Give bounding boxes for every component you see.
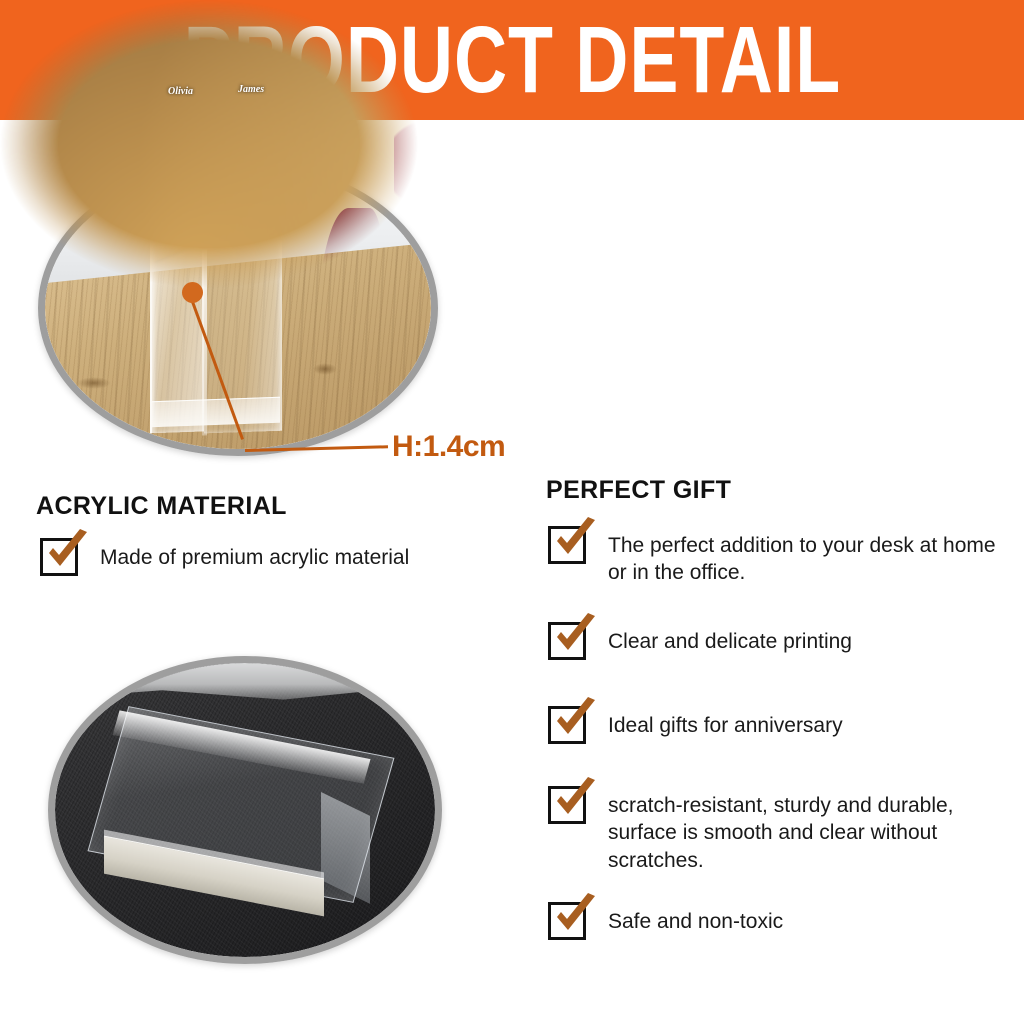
photo-acrylic-block <box>48 656 442 964</box>
checkmark-icon <box>548 526 586 564</box>
bride-name-label: Olivia <box>168 86 193 97</box>
acrylic-foot <box>152 397 280 427</box>
feature-text: Clear and delicate printing <box>608 622 1010 655</box>
checkmark-icon <box>548 622 586 660</box>
feature-item: Clear and delicate printing <box>548 622 1010 660</box>
groom-name-label: James <box>238 84 264 95</box>
wood-knot <box>77 377 111 389</box>
feature-item: Ideal gifts for anniversary <box>548 706 1010 744</box>
feature-text: scratch-resistant, sturdy and durable, s… <box>608 786 1010 874</box>
dimension-label: H:1.4cm <box>392 430 505 464</box>
feature-item: scratch-resistant, sturdy and durable, s… <box>548 786 1010 874</box>
feature-item: Safe and non-toxic <box>548 902 1010 940</box>
feature-item: Made of premium acrylic material <box>40 538 502 576</box>
feature-text: Made of premium acrylic material <box>100 538 502 571</box>
acrylic-block-scene <box>55 663 435 957</box>
checkmark-icon <box>548 902 586 940</box>
checkmark-icon <box>548 786 586 824</box>
feature-item: The perfect addition to your desk at hom… <box>548 526 1010 587</box>
dimension-marker-dot <box>182 282 203 303</box>
checkmark-icon <box>548 706 586 744</box>
feature-text: Ideal gifts for anniversary <box>608 706 1010 739</box>
photo-figurine: TILL DEATH DO US PART Olivia James <box>0 0 418 288</box>
figurine-bride <box>348 143 418 288</box>
checkmark-icon <box>40 538 78 576</box>
bride-hair-roses <box>394 111 418 208</box>
heading-perfect-gift: PERFECT GIFT <box>546 476 731 505</box>
feature-text: The perfect addition to your desk at hom… <box>608 526 1010 587</box>
heading-acrylic-material: ACRYLIC MATERIAL <box>36 492 287 521</box>
wood-knot <box>313 363 337 375</box>
bride-torso <box>410 221 418 288</box>
feature-text: Safe and non-toxic <box>608 902 1010 935</box>
